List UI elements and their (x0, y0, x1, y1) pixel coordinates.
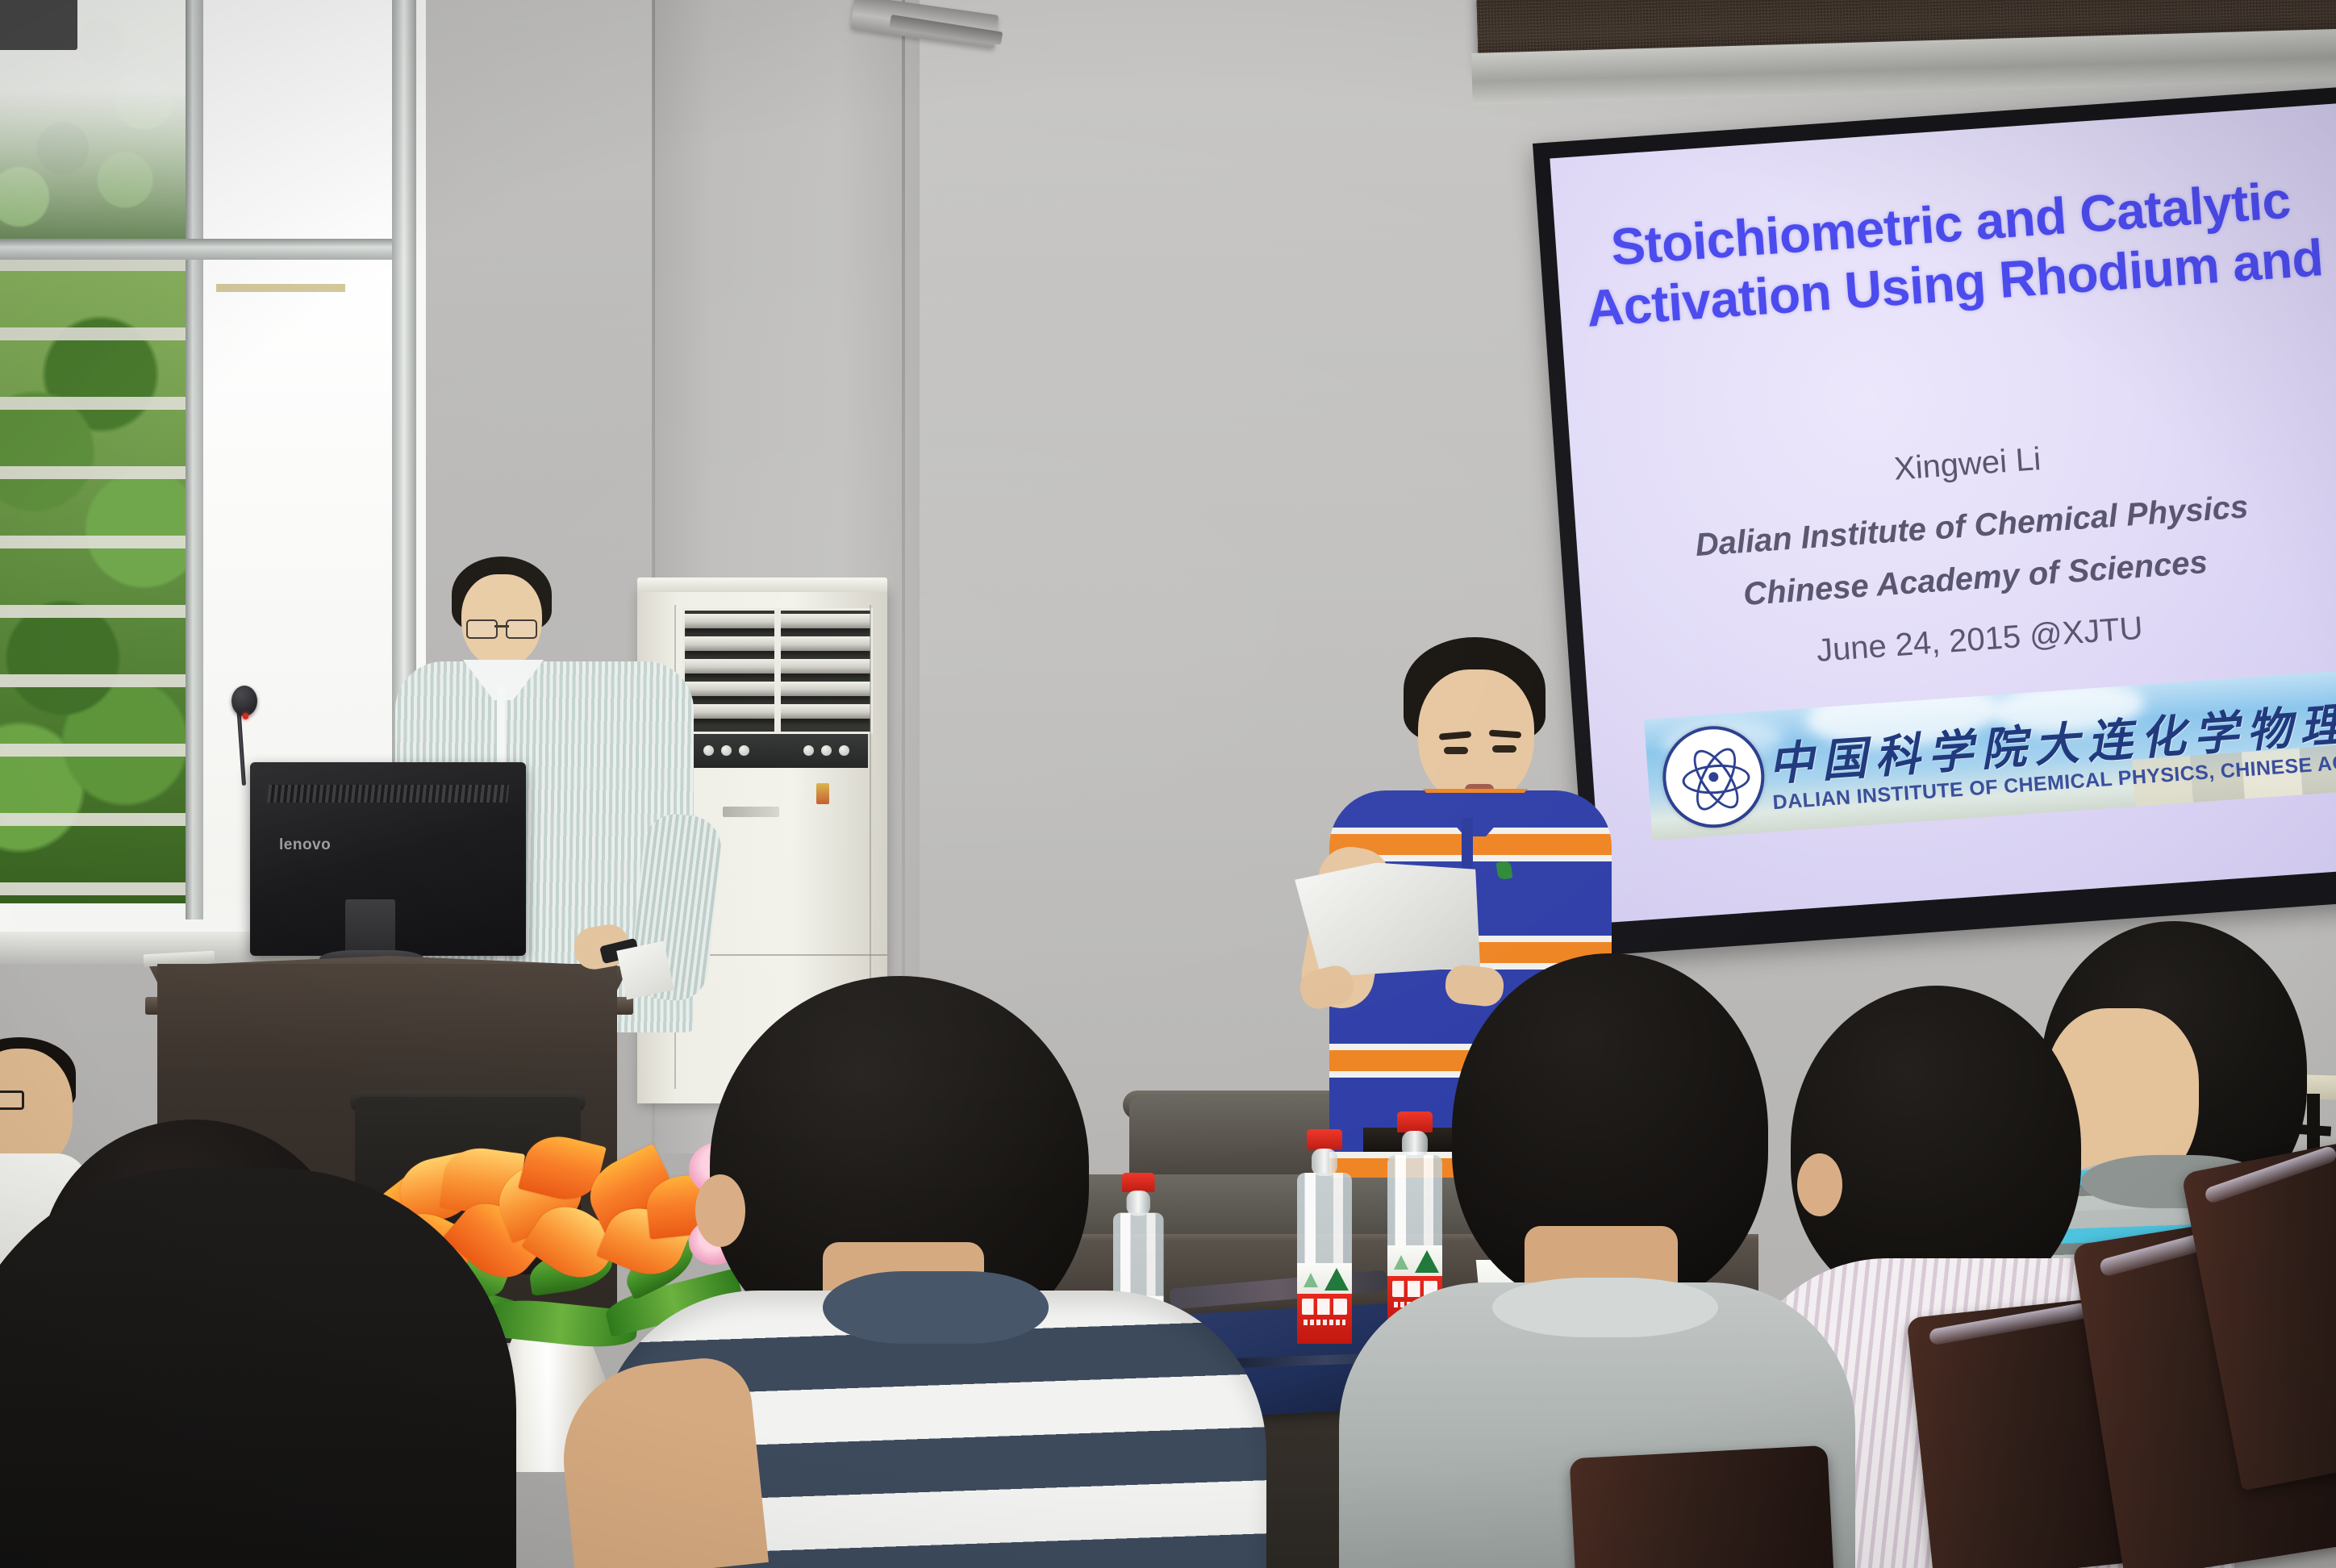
ac-control-panel[interactable] (682, 734, 868, 768)
microphone-led (243, 713, 248, 719)
eyeglasses-icon (0, 1091, 24, 1110)
ac-air-grille (682, 608, 873, 734)
institute-banner: 中国科学院大连化学物理 DALIAN INSTITUTE OF CHEMICAL… (1644, 663, 2336, 840)
bottle-cap (1307, 1129, 1342, 1150)
bottle-brand-cn (1302, 1299, 1347, 1315)
slide-author-block: Xingwei Li Dalian Institute of Chemical … (1571, 411, 2336, 694)
nongfu-mountain-icon (1394, 1255, 1408, 1270)
bottle-body (1387, 1155, 1442, 1296)
bottle-brand-en (1304, 1320, 1345, 1325)
bottle-body (1297, 1173, 1352, 1314)
audience-collar (823, 1271, 1049, 1344)
microphone-icon[interactable] (232, 686, 257, 716)
monitor-vent (267, 785, 509, 803)
window-tape (216, 284, 345, 292)
window-mullion-vertical (186, 0, 203, 920)
audience-ear (1797, 1153, 1842, 1216)
speaker-eye (1492, 745, 1516, 753)
wooden-chair-back[interactable] (1570, 1445, 1835, 1568)
window-mullion-horizontal (0, 239, 403, 260)
nongfu-mountain-icon (1415, 1250, 1439, 1273)
speaker-eye (1444, 747, 1468, 754)
seminar-room-photo: Stoichiometric and Catalytic Activation … (0, 0, 2336, 1568)
ac-brand-logo (723, 807, 779, 817)
podium-presenter-notes (616, 940, 674, 999)
window-security-bars (0, 258, 186, 903)
slide-title: Stoichiometric and Catalytic Activation … (1554, 166, 2336, 340)
polo-pony-logo-icon (1496, 861, 1513, 880)
bottle-neck (1127, 1191, 1150, 1216)
eyeglasses-bridge (494, 625, 509, 628)
nongfu-mountain-icon (1324, 1268, 1349, 1291)
bottle-cap (1397, 1111, 1433, 1132)
eyeglasses-icon (466, 619, 537, 636)
monitor-brand-logo: lenovo (279, 836, 331, 854)
bottle-neck (1402, 1131, 1428, 1158)
nongfu-mountain-icon (1304, 1273, 1318, 1287)
projection-screen: Stoichiometric and Catalytic Activation … (1550, 103, 2336, 923)
projection-screen-frame: Stoichiometric and Catalytic Activation … (1533, 87, 2336, 957)
bottle-cap (1122, 1173, 1154, 1192)
window-pane (0, 258, 186, 903)
window-latch (0, 0, 77, 50)
window-pane (202, 0, 394, 240)
bottle-neck (1312, 1149, 1337, 1176)
audience-collar (1492, 1278, 1718, 1337)
ac-top-cover (637, 578, 887, 592)
ac-sticker (816, 783, 829, 804)
window-pane (0, 0, 186, 240)
audience-ear (695, 1174, 745, 1247)
